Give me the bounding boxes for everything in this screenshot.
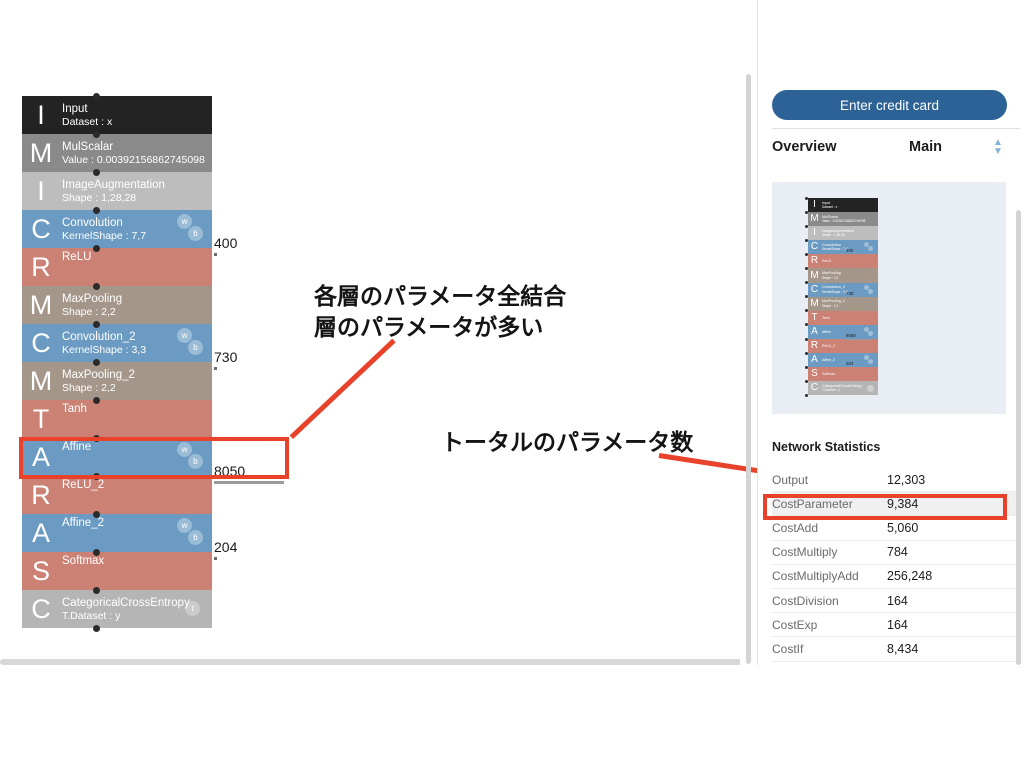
annotation-layer-note: 各層のパラメータ全結合 層のパラメータが多い	[314, 281, 566, 343]
graph-layer[interactable]: RReLU	[22, 248, 212, 286]
thumbnail-layer: MMaxPoolingShape : 2,2	[808, 268, 878, 282]
layer-text: ReLU	[60, 248, 212, 264]
thumbnail-size-value: 400	[846, 248, 853, 253]
layer-connector-dot	[93, 397, 100, 404]
graph-layer[interactable]: SSoftmax	[22, 552, 212, 590]
layer-type-glyph: M	[22, 292, 60, 319]
thumbnail-layer-property: Shape : 1,28,28	[822, 233, 878, 237]
annotation-layer-note-line2: 層のパラメータが多い	[314, 312, 566, 343]
thumbnail-layer-text: ReLU	[821, 259, 878, 263]
layer-type-glyph: A	[22, 444, 60, 471]
right-panel: Enter credit card Overview Main ▲▼ IInpu…	[757, 0, 1024, 665]
layer-connector-dot	[93, 169, 100, 176]
thumbnail-layer: RReLU	[808, 254, 878, 268]
thumbnail-connector-dot	[805, 239, 808, 242]
layer-type-glyph: C	[22, 216, 60, 243]
thumbnail-layer-name: ReLU_2	[822, 344, 878, 348]
statistics-row[interactable]: CostAdd5,060	[772, 516, 1020, 540]
thumbnail-layer: TTanh	[808, 311, 878, 325]
layer-connector-dot	[93, 511, 100, 518]
thumbnail-layer-glyph: A	[808, 327, 821, 337]
thumbnail-layer-ports	[864, 240, 877, 254]
layer-connector-dot	[93, 625, 100, 632]
network-statistics-table: Output12,303CostParameter9,384CostAdd5,0…	[772, 468, 1020, 662]
statistics-value: 164	[887, 618, 908, 632]
thumbnail-size-label: 730	[846, 291, 853, 296]
thumbnail-size-label: 8050	[846, 333, 872, 340]
statistics-value: 784	[887, 545, 908, 559]
graph-layer[interactable]: IImageAugmentationShape : 1,28,28	[22, 172, 212, 210]
thumbnail-size-value: 204	[846, 361, 853, 366]
thumbnail-port-b-icon	[868, 289, 873, 294]
port-b-icon[interactable]: b	[188, 530, 203, 545]
layer-output-size-bar	[214, 367, 217, 370]
thumbnail-layer-name: Softmax	[822, 372, 878, 376]
layer-text: MaxPoolingShape : 2,2	[60, 293, 212, 318]
thumbnail-layer-text: InputDataset : x	[821, 201, 878, 210]
thumbnail-layer-text: MaxPoolingShape : 2,2	[821, 271, 878, 280]
thumbnail-layer-ports	[864, 381, 877, 395]
thumbnail-connector-dot	[805, 211, 808, 214]
thumbnail-layer-text: Softmax	[821, 372, 878, 376]
layer-property: Dataset : x	[62, 116, 212, 128]
thumbnail-layer: CConvolutionKernelShape : 7,7	[808, 240, 878, 254]
layer-output-size-bar	[214, 481, 284, 484]
graph-layer[interactable]: MMaxPooling_2Shape : 2,2	[22, 362, 212, 400]
thumbnail-layer: MMulScalarValue : 0.00392156862745098	[808, 212, 878, 226]
overview-label: Overview	[772, 139, 837, 155]
layer-name: Tanh	[62, 403, 212, 416]
overview-selected-network[interactable]: Main	[909, 139, 942, 155]
statistics-key: CostParameter	[772, 497, 887, 511]
layer-output-size-label: 730	[214, 350, 237, 370]
thumbnail-connector-dot	[805, 225, 808, 228]
statistics-key: CostDivision	[772, 594, 887, 608]
graph-layer[interactable]: IInputDataset : x	[22, 96, 212, 134]
statistics-row[interactable]: CostParameter9,384	[772, 492, 1020, 516]
panel-left-scrollbar[interactable]	[746, 74, 751, 664]
thumbnail-layer-ports	[864, 283, 877, 297]
layer-type-glyph: R	[22, 254, 60, 281]
thumbnail-layer-name: ReLU	[822, 259, 878, 263]
layer-output-size-bar	[214, 253, 217, 256]
graph-layer[interactable]: CConvolution_2KernelShape : 3,3wb	[22, 324, 212, 362]
thumbnail-connector-dot	[805, 380, 808, 383]
thumbnail-layer-property: Shape : 2,2	[822, 276, 878, 280]
graph-layer[interactable]: CConvolutionKernelShape : 7,7wb	[22, 210, 212, 248]
thumbnail-layer-glyph: S	[808, 369, 821, 379]
panel-right-scrollbar[interactable]	[1016, 210, 1021, 665]
layer-connector-dot	[93, 131, 100, 138]
statistics-key: Output	[772, 473, 887, 487]
thumbnail-graph: IInputDataset : xMMulScalarValue : 0.003…	[808, 198, 878, 395]
app-root: IInputDataset : xMMulScalarValue : 0.003…	[0, 0, 1024, 768]
layer-type-glyph: S	[22, 558, 60, 585]
statistics-key: CostMultiply	[772, 545, 887, 559]
statistics-value: 164	[887, 594, 908, 608]
layer-type-glyph: T	[22, 406, 60, 433]
thumbnail-layer-glyph: R	[808, 256, 821, 266]
layer-output-size-value: 730	[214, 350, 237, 365]
layer-name: ImageAugmentation	[62, 179, 212, 192]
statistics-key: CostExp	[772, 618, 887, 632]
thumbnail-layer: IImageAugmentationShape : 1,28,28	[808, 226, 878, 240]
thumbnail-size-label: 400	[846, 248, 853, 253]
layer-ports: t	[175, 590, 209, 628]
statistics-row[interactable]: CostMultiply784	[772, 541, 1020, 565]
thumbnail-layer-glyph: C	[808, 242, 821, 252]
layer-connector-dot	[93, 549, 100, 556]
thumbnail-layer: IInputDataset : x	[808, 198, 878, 212]
network-graph[interactable]: IInputDataset : xMMulScalarValue : 0.003…	[22, 96, 212, 628]
layer-text: MaxPooling_2Shape : 2,2	[60, 369, 212, 394]
layer-connector-dot	[93, 93, 100, 100]
statistics-row[interactable]: CostExp164	[772, 613, 1020, 637]
thumbnail-layer: AAffine_2	[808, 353, 878, 367]
thumbnail-port-b-icon	[868, 359, 873, 364]
graph-layer[interactable]: AAffine_2wb	[22, 514, 212, 552]
layer-output-size-value: 400	[214, 236, 237, 251]
thumbnail-layer-property: Shape : 2,2	[822, 304, 878, 308]
layer-output-size-value: 204	[214, 540, 237, 555]
thumbnail-layer-glyph: C	[808, 383, 821, 393]
thumbnail-layer-text: ReLU_2	[821, 344, 878, 348]
layer-connector-dot	[93, 245, 100, 252]
thumbnail-layer-glyph: A	[808, 355, 821, 365]
layer-connector-dot	[93, 435, 100, 442]
thumbnail-layer-glyph: I	[808, 228, 821, 238]
thumbnail-layer-glyph: C	[808, 285, 821, 295]
thumbnail-layer-glyph: T	[808, 313, 821, 323]
canvas-horizontal-scrollbar[interactable]	[0, 659, 740, 665]
layer-type-glyph: I	[22, 178, 60, 205]
thumbnail-connector-dot	[805, 197, 808, 200]
thumbnail-connector-dot	[805, 253, 808, 256]
port-b-icon[interactable]: b	[188, 454, 203, 469]
layer-connector-dot	[93, 587, 100, 594]
thumbnail-size-bar	[846, 339, 872, 340]
layer-property: Shape : 2,2	[62, 306, 212, 318]
layer-output-size-label: 400	[214, 236, 237, 256]
layer-property: Shape : 1,28,28	[62, 192, 212, 204]
credit-card-cta: Enter credit card	[758, 90, 1024, 120]
thumbnail-size-value: 8050	[846, 333, 872, 338]
thumbnail-connector-dot	[805, 394, 808, 397]
statistics-row[interactable]: CostMultiplyAdd256,248	[772, 565, 1020, 589]
layer-text: MulScalarValue : 0.00392156862745098	[60, 141, 212, 166]
enter-credit-card-button[interactable]: Enter credit card	[772, 90, 1007, 120]
thumbnail-layer: CCategoricalCrossEntropyT.Dataset : y	[808, 381, 878, 395]
layer-text: Tanh	[60, 400, 212, 416]
annotation-total-note: トータルのパラメータ数	[441, 427, 693, 458]
layer-output-size-label: 204	[214, 540, 237, 560]
layer-connector-dot	[93, 473, 100, 480]
statistics-key: CostIf	[772, 642, 887, 656]
panel-divider	[772, 128, 1020, 129]
thumbnail-layer: RReLU_2	[808, 339, 878, 353]
thumbnail-layer-text: MaxPooling_2Shape : 2,2	[821, 299, 878, 308]
port-b-icon[interactable]: b	[188, 226, 203, 241]
layer-name: ReLU_2	[62, 479, 212, 492]
graph-layer[interactable]: MMaxPoolingShape : 2,2	[22, 286, 212, 324]
statistics-value: 8,434	[887, 642, 918, 656]
statistics-key: CostAdd	[772, 521, 887, 535]
thumbnail-layer-property: Dataset : x	[822, 205, 878, 209]
layer-name: Input	[62, 103, 212, 116]
layer-ports: wb	[175, 514, 209, 552]
layer-text: InputDataset : x	[60, 103, 212, 128]
thumbnail-layer-glyph: M	[808, 299, 821, 309]
thumbnail-layer-text: Tanh	[821, 316, 878, 320]
thumbnail-size-value: 730	[846, 291, 853, 296]
thumbnail-layer-text: MulScalarValue : 0.00392156862745098	[821, 215, 878, 224]
thumbnail-size-label: 204	[846, 361, 853, 366]
graph-layer[interactable]: CCategoricalCrossEntropyT.Dataset : yt	[22, 590, 212, 628]
graph-layer[interactable]: TTanh	[22, 400, 212, 438]
layer-connector-dot	[93, 321, 100, 328]
thumbnail-port-b-icon	[868, 246, 873, 251]
layer-property: Value : 0.00392156862745098	[62, 154, 212, 166]
statistics-value: 256,248	[887, 569, 932, 583]
layer-type-glyph: A	[22, 520, 60, 547]
network-statistics-title: Network Statistics	[772, 440, 880, 454]
port-t-icon[interactable]: t	[185, 601, 200, 616]
layer-ports: wb	[175, 210, 209, 248]
layer-connector-dot	[93, 283, 100, 290]
layer-output-size-bar	[214, 557, 217, 560]
thumbnail-layer-glyph: R	[808, 341, 821, 351]
thumbnail-layer-glyph: I	[808, 200, 821, 210]
chevron-updown-icon[interactable]: ▲▼	[991, 138, 1005, 156]
thumbnail-port-t-icon	[867, 385, 874, 392]
thumbnail-layer: SSoftmax	[808, 367, 878, 381]
thumbnail-connector-dot	[805, 267, 808, 270]
layer-output-size-label: 8050	[214, 464, 284, 484]
thumbnail-connector-dot	[805, 352, 808, 355]
thumbnail-layer: MMaxPooling_2Shape : 2,2	[808, 297, 878, 311]
layer-type-glyph: R	[22, 482, 60, 509]
annotation-layer-note-line1: 各層のパラメータ全結合	[314, 281, 566, 312]
thumbnail-layer-property: Value : 0.00392156862745098	[822, 219, 878, 223]
thumbnail-layer-name: Tanh	[822, 316, 878, 320]
layer-property: Shape : 2,2	[62, 382, 212, 394]
overview-header: Overview Main ▲▼	[758, 135, 1024, 167]
layer-output-size-value: 8050	[214, 464, 284, 479]
layer-ports: wb	[175, 438, 209, 476]
statistics-key: CostMultiplyAdd	[772, 569, 887, 583]
thumbnail-connector-dot	[805, 338, 808, 341]
statistics-row[interactable]: CostIf8,434	[772, 637, 1020, 661]
layer-type-glyph: M	[22, 140, 60, 167]
layer-text: ImageAugmentationShape : 1,28,28	[60, 179, 212, 204]
thumbnail-layer-glyph: M	[808, 214, 821, 224]
graph-layer[interactable]: MMulScalarValue : 0.00392156862745098	[22, 134, 212, 172]
thumbnail-layer-glyph: M	[808, 271, 821, 281]
layer-name: MaxPooling_2	[62, 369, 212, 382]
thumbnail-connector-dot	[805, 366, 808, 369]
layer-name: MaxPooling	[62, 293, 212, 306]
layer-name: MulScalar	[62, 141, 212, 154]
statistics-row[interactable]: Output12,303	[772, 468, 1020, 492]
layer-name: ReLU	[62, 251, 212, 264]
graph-layer[interactable]: RReLU_2	[22, 476, 212, 514]
layer-text: ReLU_2	[60, 476, 212, 492]
layer-ports: wb	[175, 324, 209, 362]
statistics-value: 12,303	[887, 473, 925, 487]
port-b-icon[interactable]: b	[188, 340, 203, 355]
statistics-row[interactable]: CostDivision164	[772, 589, 1020, 613]
thumbnail-layer-ports	[864, 353, 877, 367]
thumbnail-layer-text: ImageAugmentationShape : 1,28,28	[821, 229, 878, 238]
layer-type-glyph: I	[22, 102, 60, 129]
statistics-value: 9,384	[887, 497, 918, 511]
layer-text: Softmax	[60, 552, 212, 568]
layer-type-glyph: C	[22, 596, 60, 623]
statistics-value: 5,060	[887, 521, 918, 535]
layer-type-glyph: M	[22, 368, 60, 395]
layer-connector-dot	[93, 207, 100, 214]
layer-name: Softmax	[62, 555, 212, 568]
layer-connector-dot	[93, 359, 100, 366]
graph-layer[interactable]: AAffinewb	[22, 438, 212, 476]
thumbnail-layer: CConvolution_2KernelShape : 3,3	[808, 283, 878, 297]
network-overview-thumbnail[interactable]: IInputDataset : xMMulScalarValue : 0.003…	[772, 182, 1006, 414]
layer-type-glyph: C	[22, 330, 60, 357]
